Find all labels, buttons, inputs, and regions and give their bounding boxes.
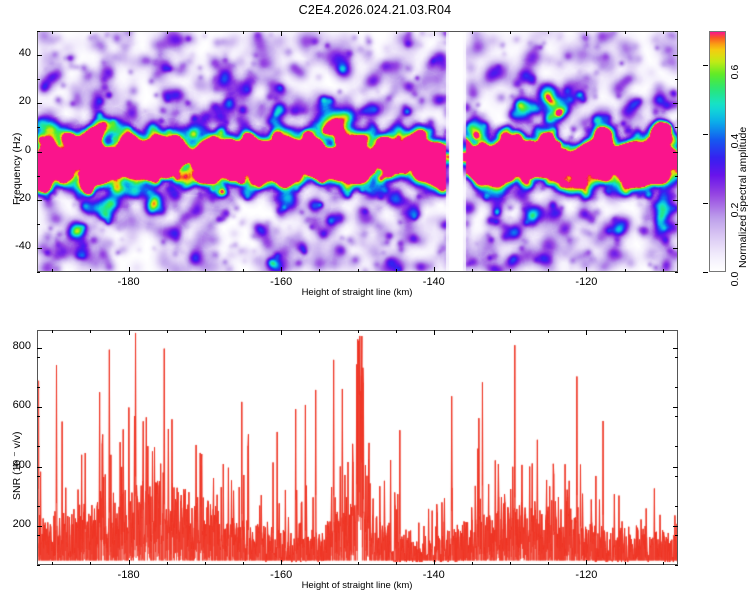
- y-minor-tick: [675, 387, 678, 388]
- colorbar-gradient: [709, 31, 726, 272]
- x-minor-tick: [243, 330, 244, 333]
- spectrogram-panel[interactable]: [37, 31, 678, 272]
- x-minor-tick: [205, 31, 206, 34]
- x-tick: [281, 267, 282, 272]
- y-minor-tick: [37, 31, 40, 32]
- y-tick: [673, 467, 678, 468]
- x-tick-label: -180: [99, 569, 159, 581]
- x-minor-tick: [625, 31, 626, 34]
- y-tick: [37, 348, 42, 349]
- x-minor-tick: [510, 330, 511, 333]
- y-tick-label: 600: [0, 399, 31, 411]
- x-minor-tick: [510, 269, 511, 272]
- x-minor-tick: [90, 330, 91, 333]
- y-minor-tick: [675, 79, 678, 80]
- x-minor-tick: [625, 269, 626, 272]
- colorbar-tick-label: 0.6: [729, 57, 741, 87]
- x-tick: [281, 31, 282, 36]
- colorbar-tick: [703, 134, 708, 135]
- x-minor-tick: [205, 269, 206, 272]
- y-minor-tick: [675, 535, 678, 536]
- x-minor-tick: [510, 31, 511, 34]
- x-minor-tick: [548, 562, 549, 565]
- x-minor-tick: [472, 562, 473, 565]
- y-tick: [37, 200, 42, 201]
- y-minor-tick: [675, 416, 678, 417]
- x-tick: [586, 267, 587, 272]
- x-tick: [586, 31, 587, 36]
- snr-trace-plot: [37, 330, 678, 565]
- y-tick: [37, 467, 42, 468]
- x-tick: [434, 560, 435, 565]
- x-minor-tick: [663, 330, 664, 333]
- y-minor-tick: [37, 176, 40, 177]
- y-tick: [37, 526, 42, 527]
- y-minor-tick: [675, 176, 678, 177]
- snr-yaxis-title: SNR (10 ⁻ v/v): [11, 431, 23, 500]
- x-minor-tick: [205, 562, 206, 565]
- x-minor-tick: [52, 562, 53, 565]
- x-minor-tick: [663, 562, 664, 565]
- y-tick: [673, 526, 678, 527]
- x-minor-tick: [319, 269, 320, 272]
- colorbar-tick-label: 0.0: [729, 264, 741, 294]
- y-minor-tick: [37, 357, 40, 358]
- x-minor-tick: [52, 269, 53, 272]
- y-tick-label: 800: [0, 340, 31, 352]
- x-tick: [281, 330, 282, 335]
- x-minor-tick: [472, 31, 473, 34]
- x-tick: [129, 267, 130, 272]
- x-minor-tick: [243, 31, 244, 34]
- y-minor-tick: [675, 446, 678, 447]
- page-title: C2E4.2026.024.21.03.R04: [0, 3, 750, 17]
- y-tick: [673, 103, 678, 104]
- x-tick: [434, 267, 435, 272]
- x-minor-tick: [167, 562, 168, 565]
- y-tick-label: -40: [0, 240, 31, 252]
- colorbar-tick: [703, 272, 708, 273]
- y-tick: [37, 55, 42, 56]
- x-minor-tick: [396, 31, 397, 34]
- x-minor-tick: [663, 269, 664, 272]
- x-tick: [281, 560, 282, 565]
- x-minor-tick: [625, 330, 626, 333]
- y-tick: [37, 103, 42, 104]
- x-minor-tick: [510, 562, 511, 565]
- x-minor-tick: [205, 330, 206, 333]
- y-tick: [673, 348, 678, 349]
- x-minor-tick: [167, 269, 168, 272]
- x-minor-tick: [358, 31, 359, 34]
- x-minor-tick: [90, 31, 91, 34]
- y-minor-tick: [37, 565, 40, 566]
- x-minor-tick: [472, 269, 473, 272]
- x-minor-tick: [167, 330, 168, 333]
- snr-xaxis-title: Height of straight line (km): [237, 580, 477, 591]
- x-tick: [586, 560, 587, 565]
- y-minor-tick: [675, 224, 678, 225]
- y-minor-tick: [675, 506, 678, 507]
- x-minor-tick: [90, 562, 91, 565]
- x-minor-tick: [358, 562, 359, 565]
- y-minor-tick: [675, 565, 678, 566]
- y-tick-label: 20: [0, 95, 31, 107]
- x-tick-label: -120: [556, 276, 616, 288]
- x-minor-tick: [243, 562, 244, 565]
- y-minor-tick: [675, 272, 678, 273]
- x-minor-tick: [243, 269, 244, 272]
- spectrogram-image: [37, 31, 678, 272]
- y-tick: [37, 152, 42, 153]
- y-minor-tick: [37, 272, 40, 273]
- colorbar-tick: [703, 203, 708, 204]
- snr-panel[interactable]: [37, 330, 678, 565]
- x-minor-tick: [548, 330, 549, 333]
- x-tick: [434, 31, 435, 36]
- x-minor-tick: [625, 562, 626, 565]
- y-minor-tick: [37, 535, 40, 536]
- x-minor-tick: [319, 562, 320, 565]
- x-minor-tick: [319, 31, 320, 34]
- x-minor-tick: [52, 330, 53, 333]
- x-tick: [129, 31, 130, 36]
- x-minor-tick: [319, 330, 320, 333]
- x-minor-tick: [548, 31, 549, 34]
- y-minor-tick: [675, 357, 678, 358]
- spectrogram-yaxis-title: Frequency (Hz): [11, 133, 23, 205]
- x-minor-tick: [472, 330, 473, 333]
- figure-root: C2E4.2026.024.21.03.R04 -180-160-140-120…: [0, 0, 750, 600]
- x-tick-label: -120: [556, 569, 616, 581]
- x-tick: [434, 330, 435, 335]
- y-tick: [37, 407, 42, 408]
- colorbar[interactable]: [709, 31, 726, 272]
- y-minor-tick: [37, 416, 40, 417]
- y-minor-tick: [37, 476, 40, 477]
- x-minor-tick: [396, 562, 397, 565]
- spectrogram-xaxis-title: Height of straight line (km): [237, 287, 477, 298]
- y-tick-label: 200: [0, 518, 31, 530]
- y-minor-tick: [675, 127, 678, 128]
- x-tick: [586, 330, 587, 335]
- y-tick: [37, 248, 42, 249]
- x-minor-tick: [52, 31, 53, 34]
- x-minor-tick: [167, 31, 168, 34]
- x-tick-label: -180: [99, 276, 159, 288]
- x-tick: [129, 560, 130, 565]
- y-tick: [673, 200, 678, 201]
- y-tick: [673, 55, 678, 56]
- x-minor-tick: [396, 269, 397, 272]
- colorbar-title: Normalized spectral amplitude: [737, 127, 749, 268]
- x-minor-tick: [90, 269, 91, 272]
- colorbar-tick: [703, 65, 708, 66]
- y-minor-tick: [37, 224, 40, 225]
- y-tick: [673, 407, 678, 408]
- y-tick: [673, 152, 678, 153]
- y-tick: [673, 248, 678, 249]
- y-tick-label: 40: [0, 47, 31, 59]
- x-minor-tick: [548, 269, 549, 272]
- x-minor-tick: [663, 31, 664, 34]
- y-minor-tick: [675, 476, 678, 477]
- x-tick: [129, 330, 130, 335]
- y-minor-tick: [37, 506, 40, 507]
- y-minor-tick: [37, 446, 40, 447]
- x-minor-tick: [358, 330, 359, 333]
- x-minor-tick: [358, 269, 359, 272]
- y-minor-tick: [37, 79, 40, 80]
- y-minor-tick: [37, 387, 40, 388]
- y-minor-tick: [37, 127, 40, 128]
- x-minor-tick: [396, 330, 397, 333]
- y-minor-tick: [675, 31, 678, 32]
